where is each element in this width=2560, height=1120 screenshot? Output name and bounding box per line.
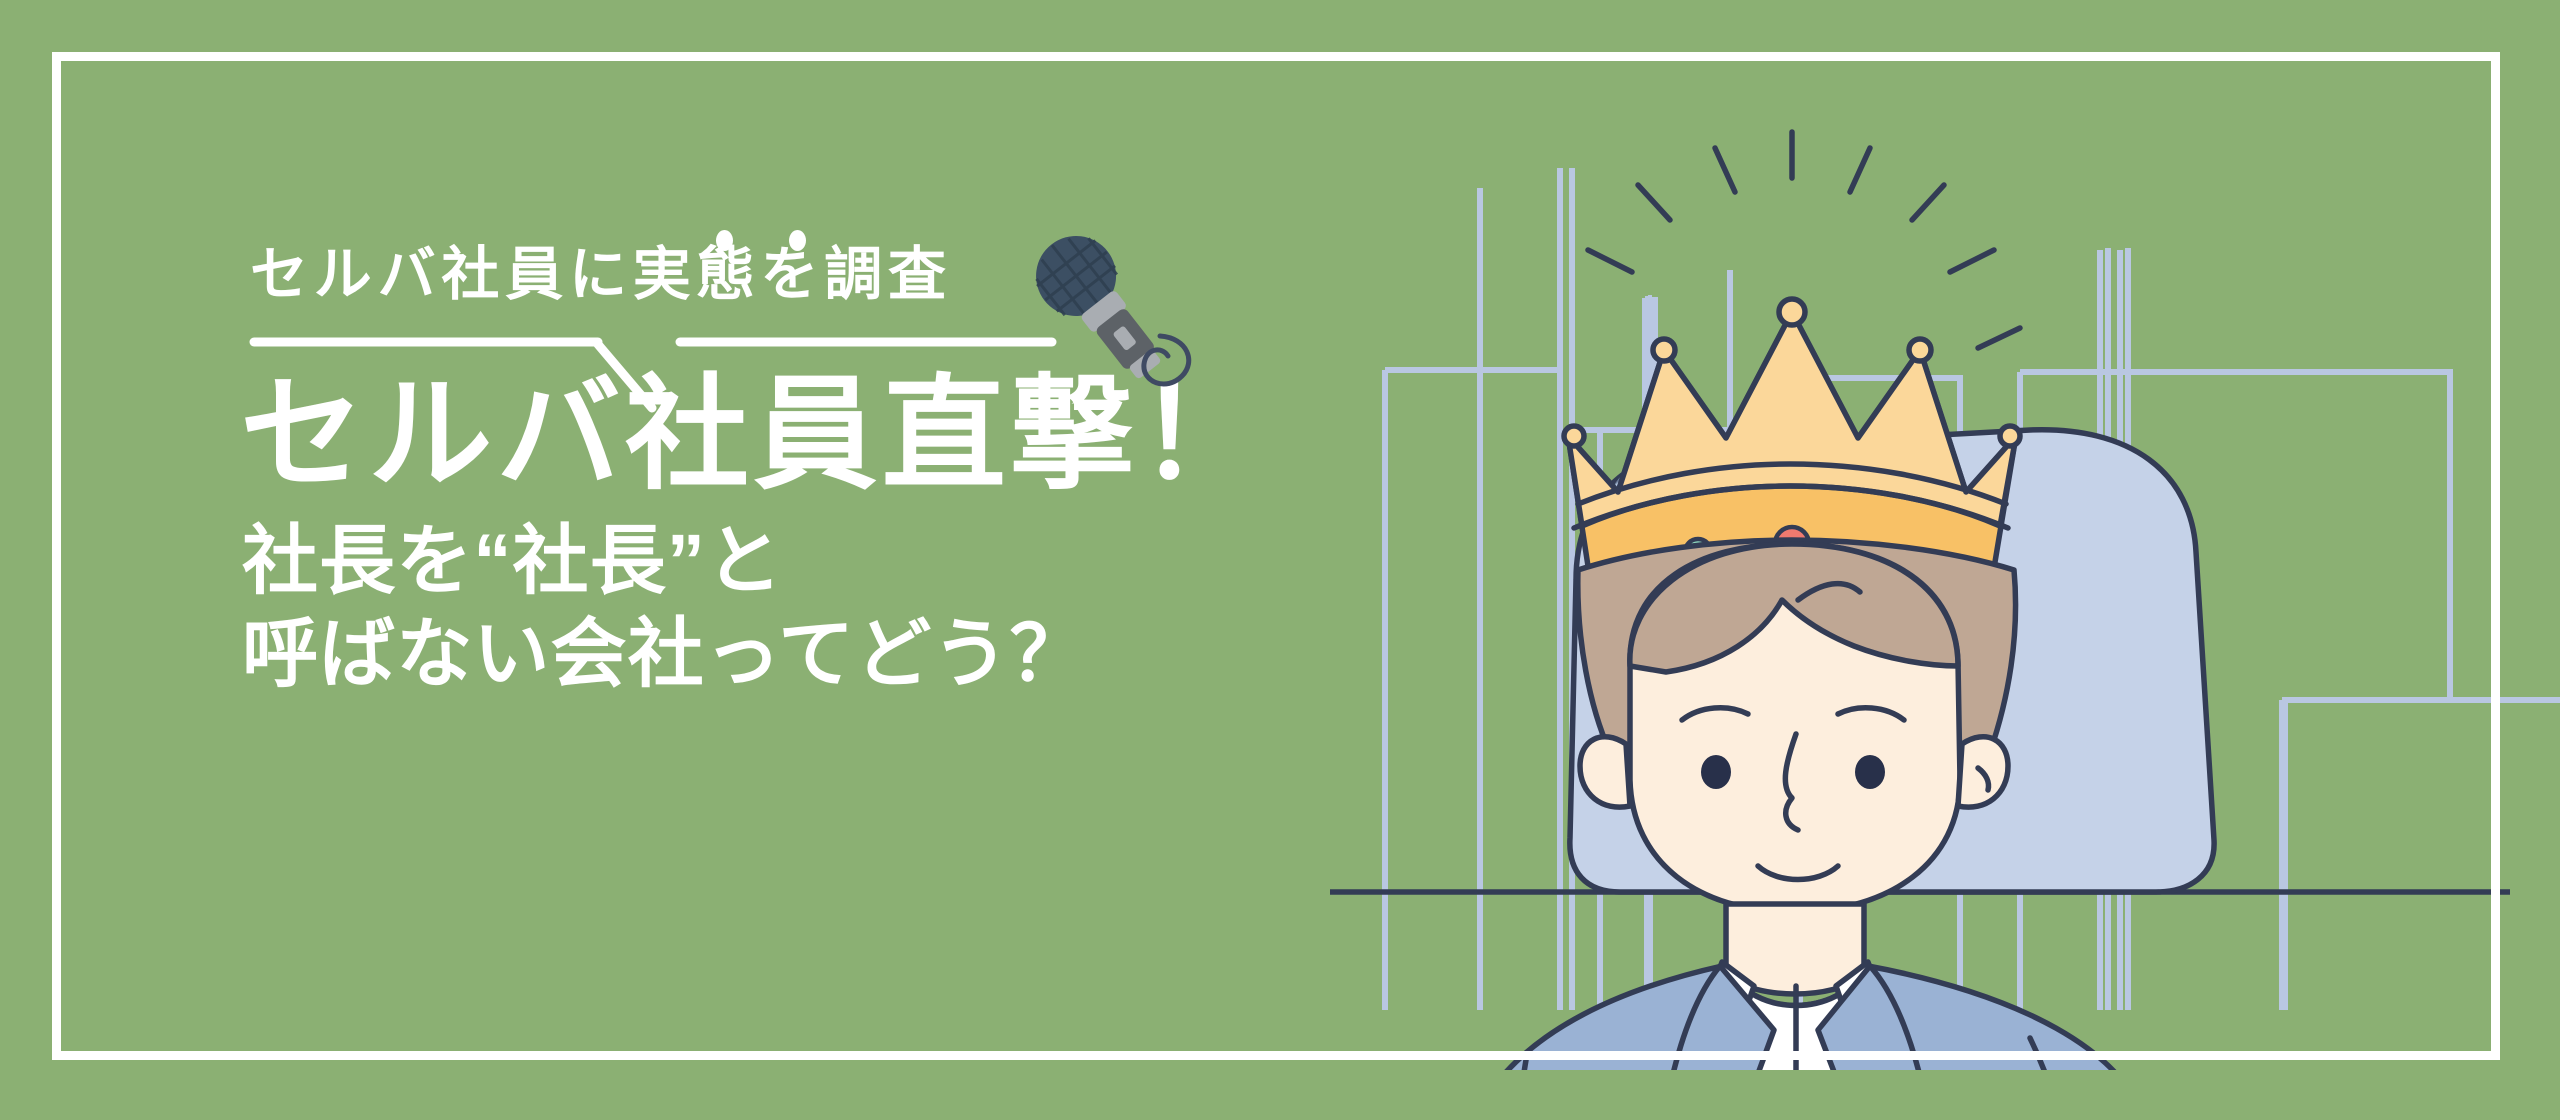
eyebrow-text: セルバ社員に実態を調査 — [250, 246, 952, 304]
subtitle-line-1: 社長を“社長”と — [240, 498, 1360, 609]
banner-root: .ol { fill:none; stroke:#333c55; stroke-… — [0, 0, 2560, 1120]
angled-underline-decoration — [240, 330, 1080, 420]
desk-scene: .o2 { fill:none; stroke:#333c55; stroke-… — [1330, 100, 2510, 1070]
subtitle-line-2: 呼ばない会社ってどう？ — [240, 609, 1360, 702]
microphone-icon — [1010, 218, 1200, 408]
